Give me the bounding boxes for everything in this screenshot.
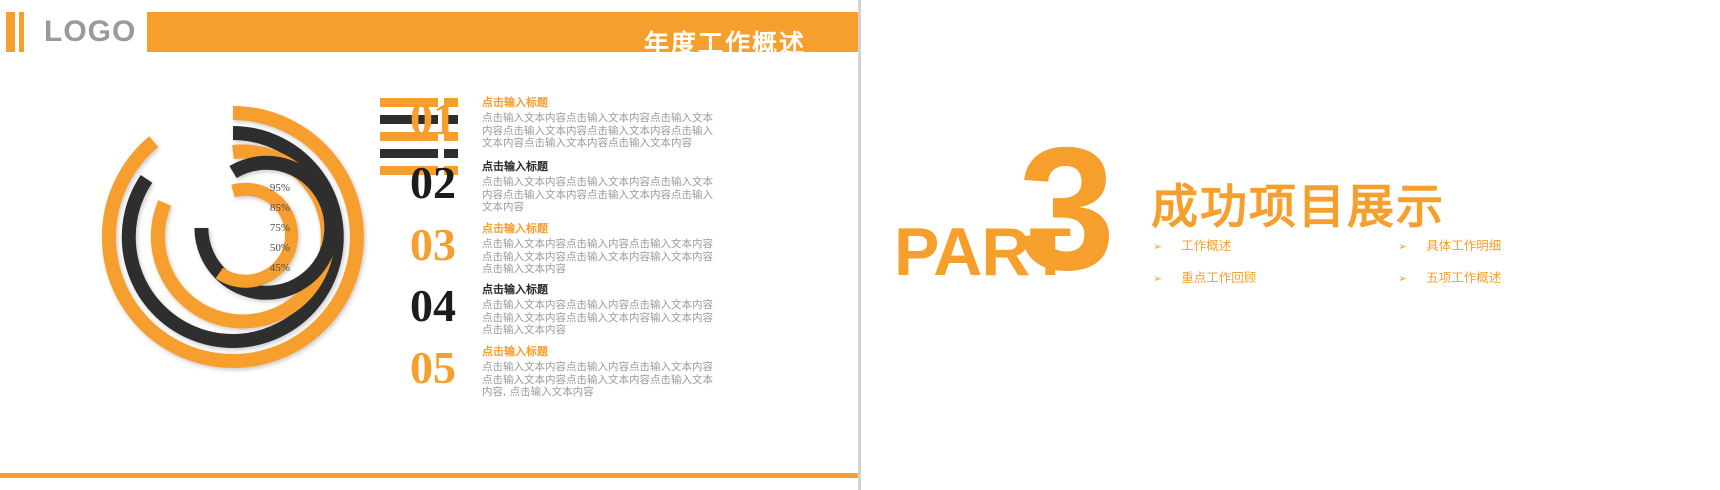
list-item[interactable]: ➢ 五项工作概述 bbox=[1398, 271, 1603, 285]
item-text: 点击输入文本内容点击输入内容点击输入文本内容点击输入文本内容点击输入文本内容输入… bbox=[482, 299, 720, 337]
item-body: 点击输入标题 点击输入文本内容点击输入文本内容点击输入文本内容点击输入文本内容点… bbox=[482, 160, 720, 214]
chevron-right-icon: ➢ bbox=[1398, 273, 1407, 284]
bullet-label: 五项工作概述 bbox=[1426, 271, 1501, 285]
bullet-label: 工作概述 bbox=[1181, 239, 1231, 253]
item-number: 05 bbox=[410, 345, 482, 391]
page-title: 年度工作概述 bbox=[644, 29, 806, 59]
list-item[interactable]: ➢ 重点工作回顾 bbox=[1153, 271, 1358, 285]
chart-label-4: 50% bbox=[270, 242, 290, 254]
chart-label-1: 95% bbox=[270, 182, 290, 194]
item-text: 点击输入文本内容点击输入内容点击输入文本内容点击输入文本内容点击输入文本内容输入… bbox=[482, 238, 720, 276]
agenda-bullet-list: ➢ 工作概述 ➢ 具体工作明细 ➢ 重点工作回顾 ➢ 五项工作概述 bbox=[1153, 239, 1658, 285]
item-text: 点击输入文本内容点击输入内容点击输入文本内容点击输入文本内容点击输入文本内容点击… bbox=[482, 361, 720, 399]
list-item[interactable]: 04 点击输入标题 点击输入文本内容点击输入内容点击输入文本内容点击输入文本内容… bbox=[410, 283, 720, 337]
logo-bar-thin bbox=[19, 12, 24, 52]
presentation-canvas: LOGO 年度工作概述 bbox=[0, 0, 1720, 490]
item-body: 点击输入标题 点击输入文本内容点击输入内容点击输入文本内容点击输入文本内容点击输… bbox=[482, 345, 720, 399]
radial-progress-chart: 95% 85% 75% 50% 45% bbox=[78, 82, 388, 398]
item-title: 点击输入标题 bbox=[482, 160, 720, 174]
chevron-right-icon: ➢ bbox=[1153, 241, 1162, 252]
list-item[interactable]: 02 点击输入标题 点击输入文本内容点击输入文本内容点击输入文本内容点击输入文本… bbox=[410, 160, 720, 214]
logo-accent-bars bbox=[6, 12, 24, 52]
item-body: 点击输入标题 点击输入文本内容点击输入文本内容点击输入文本内容点击输入文本内容点… bbox=[482, 96, 720, 150]
bullet-label: 具体工作明细 bbox=[1426, 239, 1501, 253]
item-title: 点击输入标题 bbox=[482, 283, 720, 297]
item-text: 点击输入文本内容点击输入文本内容点击输入文本内容点击输入文本内容点击输入文本内容… bbox=[482, 112, 720, 150]
item-title: 点击输入标题 bbox=[482, 96, 720, 110]
slide-part-3-successful-projects[interactable]: PART 3 成功项目展示 ➢ 工作概述 ➢ 具体工作明细 ➢ 重点工作回顾 ➢… bbox=[861, 0, 1720, 490]
list-item[interactable]: ➢ 具体工作明细 bbox=[1398, 239, 1603, 253]
list-item[interactable]: 05 点击输入标题 点击输入文本内容点击输入内容点击输入文本内容点击输入文本内容… bbox=[410, 345, 720, 399]
logo-bar-wide bbox=[6, 12, 15, 52]
chart-label-5: 45% bbox=[270, 262, 290, 274]
chevron-right-icon: ➢ bbox=[1153, 273, 1162, 284]
item-body: 点击输入标题 点击输入文本内容点击输入内容点击输入文本内容点击输入文本内容点击输… bbox=[482, 283, 720, 337]
radial-chart-svg bbox=[78, 82, 388, 398]
part-number: 3 bbox=[1018, 122, 1115, 297]
logo-text: LOGO bbox=[44, 14, 136, 50]
item-title: 点击输入标题 bbox=[482, 345, 720, 359]
list-item[interactable]: ➢ 工作概述 bbox=[1153, 239, 1358, 253]
list-item[interactable]: 03 点击输入标题 点击输入文本内容点击输入内容点击输入文本内容点击输入文本内容… bbox=[410, 222, 720, 276]
item-number: 01 bbox=[410, 96, 482, 142]
item-title: 点击输入标题 bbox=[482, 222, 720, 236]
item-number: 03 bbox=[410, 222, 482, 268]
list-item[interactable]: 01 点击输入标题 点击输入文本内容点击输入文本内容点击输入文本内容点击输入文本… bbox=[410, 96, 720, 150]
chart-label-3: 75% bbox=[270, 222, 290, 234]
section-title: 成功项目展示 bbox=[1151, 180, 1445, 236]
chart-label-2: 85% bbox=[270, 202, 290, 214]
item-body: 点击输入标题 点击输入文本内容点击输入内容点击输入文本内容点击输入文本内容点击输… bbox=[482, 222, 720, 276]
footer-accent-line bbox=[0, 473, 858, 478]
header-title-bar: 年度工作概述 bbox=[147, 12, 858, 52]
bullet-label: 重点工作回顾 bbox=[1181, 271, 1256, 285]
slide-annual-work-overview[interactable]: LOGO 年度工作概述 bbox=[0, 0, 858, 490]
chevron-right-icon: ➢ bbox=[1398, 241, 1407, 252]
item-text: 点击输入文本内容点击输入文本内容点击输入文本内容点击输入文本内容点击输入文本内容… bbox=[482, 176, 720, 214]
item-number: 02 bbox=[410, 160, 482, 206]
item-number: 04 bbox=[410, 283, 482, 329]
